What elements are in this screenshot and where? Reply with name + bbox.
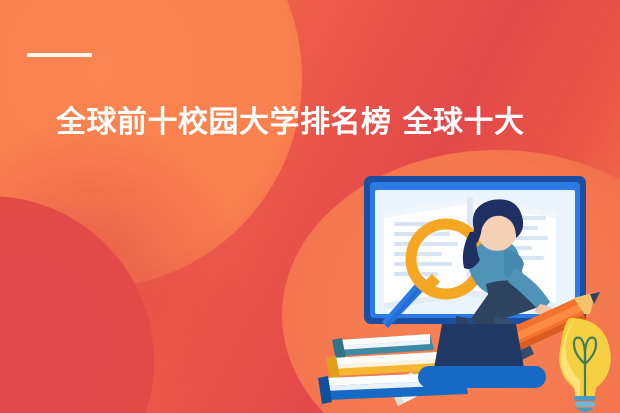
student-research-illustration [318, 168, 620, 413]
title-divider-rule [27, 53, 92, 57]
lightbulb-icon [559, 318, 610, 412]
banner: 全球前十校园大学排名榜 全球十大 [0, 0, 620, 413]
page-title: 全球前十校园大学排名榜 全球十大 [56, 104, 620, 142]
